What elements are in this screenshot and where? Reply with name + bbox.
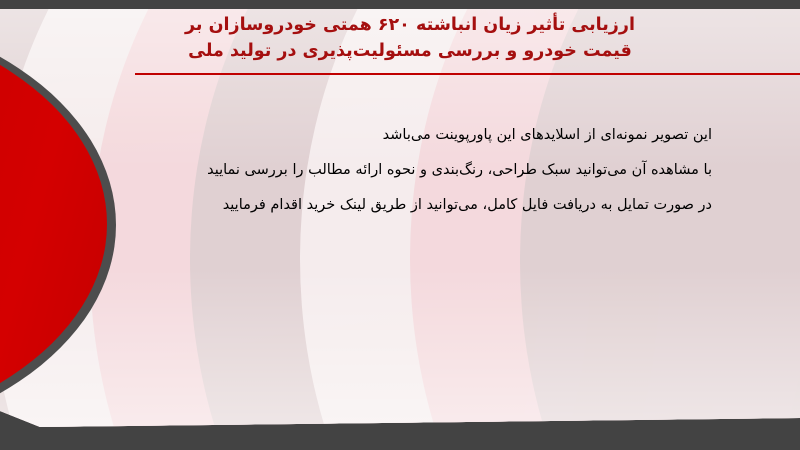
slide-top-border [0, 0, 800, 9]
presentation-slide: ارزیابی تأثیر زیان انباشته ۶۲۰ همتی خودر… [0, 0, 800, 450]
slide-title: ارزیابی تأثیر زیان انباشته ۶۲۰ همتی خودر… [40, 12, 780, 64]
body-line-3: در صورت تمایل به دریافت فایل کامل، می‌تو… [112, 188, 712, 223]
body-line-2: با مشاهده آن می‌توانید سبک طراحی، رنگ‌بن… [112, 153, 712, 188]
slide-bottom-border [0, 427, 800, 450]
body-line-1: این تصویر نمونه‌ای از اسلایدهای این پاور… [112, 118, 712, 153]
title-underline-rule [135, 73, 800, 75]
slide-body-text: این تصویر نمونه‌ای از اسلایدهای این پاور… [112, 118, 712, 223]
title-line-1: ارزیابی تأثیر زیان انباشته ۶۲۰ همتی خودر… [40, 12, 780, 38]
title-line-2: قیمت خودرو و بررسی مسئولیت‌پذیری در تولی… [40, 38, 780, 64]
